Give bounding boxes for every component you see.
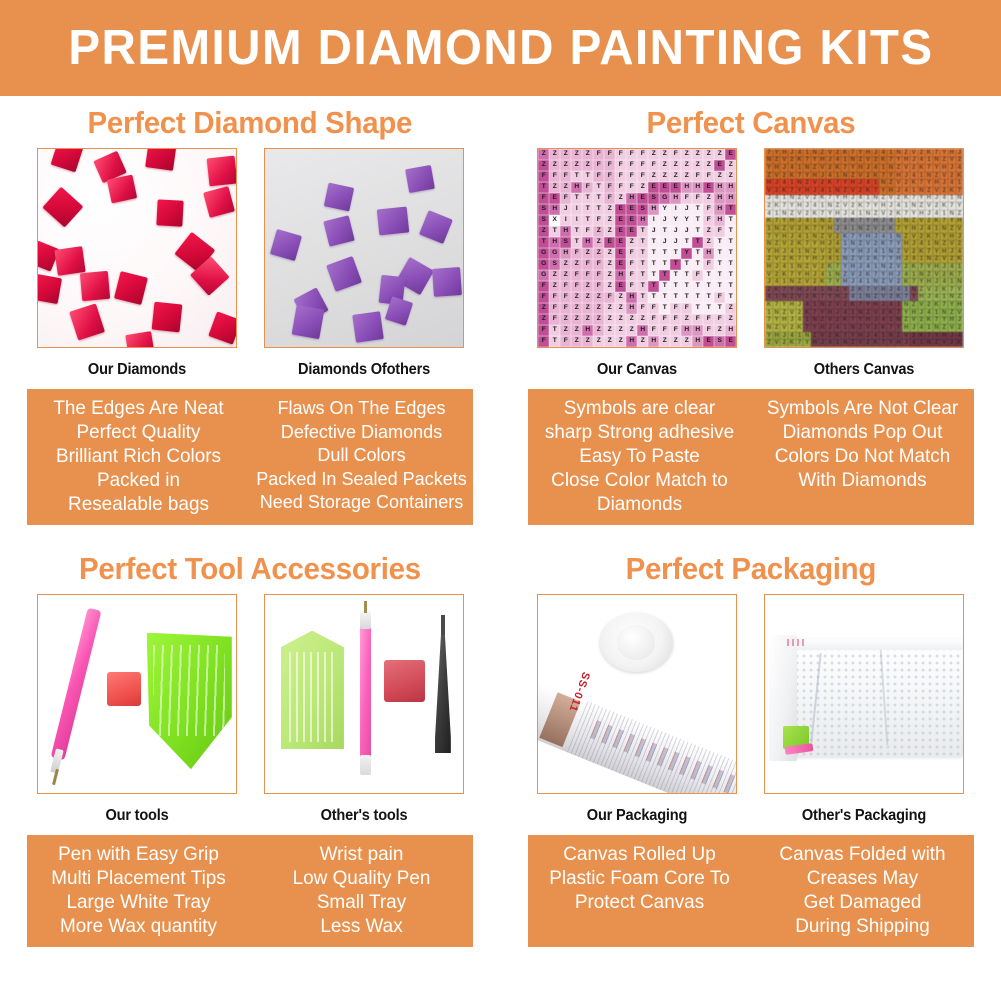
canvas-symbol-cell: 1 <box>803 233 811 241</box>
canvas-symbol-cell: 4 <box>796 233 804 241</box>
canvas-symbol-cell: T <box>659 248 670 259</box>
canvas-symbol-cell: V <box>895 263 903 271</box>
canvas-symbol-cell: E <box>604 237 615 248</box>
canvas-symbol-cell: T <box>681 237 692 248</box>
canvas-symbol-cell: K <box>925 149 933 157</box>
canvas-symbol-cell: K <box>872 172 880 180</box>
canvas-symbol-cell: F <box>703 325 714 336</box>
canvas-symbol-cell: F <box>615 149 626 160</box>
canvas-symbol-cell: N <box>857 225 865 233</box>
canvas-symbol-cell: V <box>857 172 865 180</box>
canvas-symbol-cell: J <box>857 263 865 271</box>
canvas-symbol-cell: V <box>765 271 773 279</box>
canvas-symbol-cell: Z <box>582 314 593 325</box>
canvas-symbol-cell: F <box>593 160 604 171</box>
canvas-symbol-cell: J <box>895 271 903 279</box>
canvas-symbol-cell: 1 <box>910 271 918 279</box>
canvas-symbol-cell: Z <box>948 309 956 317</box>
canvas-symbol-cell: Z <box>857 157 865 165</box>
canvas-symbol-cell: Z <box>725 171 736 182</box>
textband-diamond-shape: The Edges Are Neat Perfect Quality Brill… <box>27 389 473 525</box>
canvas-symbol-cell: V <box>902 248 910 256</box>
canvas-symbol-cell: F <box>560 292 571 303</box>
canvas-symbol-cell: 7 <box>879 172 887 180</box>
canvas-symbol-cell: 4 <box>879 149 887 157</box>
canvas-symbol-cell: 7 <box>925 332 933 340</box>
canvas-symbol-cell: E <box>615 226 626 237</box>
canvas-symbol-cell: Y <box>887 256 895 264</box>
canvas-symbol-cell: Z <box>714 171 725 182</box>
section-title-canvas: Perfect Canvas <box>646 107 855 138</box>
canvas-symbol-cell: T <box>714 270 725 281</box>
canvas-symbol-cell: 2 <box>834 233 842 241</box>
canvas-symbol-cell: F <box>692 171 703 182</box>
canvas-symbol-cell: J <box>560 204 571 215</box>
canvas-symbol-cell: Y <box>918 278 926 286</box>
canvas-symbol-cell: Z <box>918 286 926 294</box>
text-line: Pen with Easy Grip <box>33 842 245 866</box>
canvas-symbol-cell: 4 <box>933 210 941 218</box>
text-line: Symbols Are Not Clear <box>756 396 968 420</box>
canvas-symbol-cell: 2 <box>841 301 849 309</box>
textband-packaging: Canvas Rolled Up Plastic Foam Core To Pr… <box>528 835 974 947</box>
canvas-symbol-cell: V <box>879 294 887 302</box>
canvas-symbol-cell: 1 <box>857 294 865 302</box>
canvas-symbol-cell: 2 <box>780 256 788 264</box>
canvas-symbol-cell: T <box>692 292 703 303</box>
textcol-our-canvas: Symbols are clear sharp Strong adhesive … <box>531 389 747 525</box>
canvas-symbol-cell: S <box>549 259 560 270</box>
canvas-symbol-cell: T <box>725 270 736 281</box>
canvas-symbol-cell: Z <box>773 157 781 165</box>
section-title-diamond-shape: Perfect Diamond Shape <box>88 107 413 138</box>
canvas-symbol-cell: H <box>925 278 933 286</box>
canvas-symbol-cell: Z <box>811 248 819 256</box>
canvas-symbol-cell: V <box>773 172 781 180</box>
canvas-symbol-cell: I <box>560 215 571 226</box>
canvas-symbol-cell: T <box>703 281 714 292</box>
canvas-symbol-cell: 2 <box>788 240 796 248</box>
caption-line-packaging: Our Packaging Other's Packaging <box>501 800 1001 825</box>
canvas-symbol-cell: K <box>910 179 918 187</box>
canvas-symbol-cell: V <box>933 187 941 195</box>
canvas-symbol-cell: G <box>549 248 560 259</box>
canvas-symbol-cell: J <box>887 286 895 294</box>
canvas-symbol-cell: J <box>857 179 865 187</box>
canvas-symbol-cell: N <box>773 309 781 317</box>
canvas-symbol-cell: F <box>571 248 582 259</box>
canvas-symbol-cell: N <box>872 278 880 286</box>
canvas-symbol-cell: Z <box>560 182 571 193</box>
canvas-symbol-cell: H <box>788 218 796 226</box>
canvas-symbol-cell: T <box>725 259 736 270</box>
canvas-symbol-cell: Z <box>604 270 615 281</box>
canvas-symbol-cell: Z <box>538 303 549 314</box>
canvas-symbol-cell: H <box>819 157 827 165</box>
canvas-symbol-cell: 2 <box>765 202 773 210</box>
canvas-symbol-cell: 4 <box>918 324 926 332</box>
canvas-symbol-cell: 2 <box>780 339 788 347</box>
canvas-symbol-cell: J <box>659 237 670 248</box>
canvas-symbol-cell: 1 <box>841 157 849 165</box>
image-pair-diamond-shape <box>0 148 501 348</box>
canvas-symbol-cell: 4 <box>819 187 827 195</box>
canvas-symbol-cell: V <box>910 149 918 157</box>
canvas-symbol-cell: Z <box>857 240 865 248</box>
canvas-symbol-cell: F <box>538 281 549 292</box>
canvas-symbol-cell: T <box>648 237 659 248</box>
canvas-symbol-cell: J <box>811 271 819 279</box>
canvas-symbol-cell: Z <box>773 240 781 248</box>
canvas-symbol-cell: Y <box>857 233 865 241</box>
canvas-symbol-cell: 1 <box>826 187 834 195</box>
canvas-symbol-cell: 4 <box>796 317 804 325</box>
canvas-symbol-cell: J <box>940 263 948 271</box>
canvas-symbol-cell: Z <box>872 210 880 218</box>
section-title-packaging: Perfect Packaging <box>625 553 876 584</box>
canvas-symbol-cell: V <box>849 271 857 279</box>
canvas-symbol-cell: T <box>549 325 560 336</box>
canvas-symbol-cell: N <box>940 225 948 233</box>
canvas-symbol-cell: Z <box>582 149 593 160</box>
canvas-symbol-cell: 2 <box>841 218 849 226</box>
canvas-symbol-cell: Z <box>604 336 615 347</box>
canvas-symbol-cell: E <box>615 248 626 259</box>
canvas-symbol-cell: J <box>834 309 842 317</box>
canvas-symbol-cell: 7 <box>933 233 941 241</box>
canvas-symbol-cell: 1 <box>826 271 834 279</box>
canvas-symbol-cell: F <box>538 325 549 336</box>
canvas-symbol-cell: J <box>841 210 849 218</box>
canvas-symbol-cell: 4 <box>864 263 872 271</box>
canvas-symbol-cell: H <box>788 301 796 309</box>
canvas-symbol-cell: 7 <box>788 187 796 195</box>
canvas-symbol-cell: 7 <box>872 271 880 279</box>
canvas-symbol-cell: 4 <box>834 324 842 332</box>
canvas-symbol-cell: Z <box>670 160 681 171</box>
canvas-symbol-cell: E <box>703 336 714 347</box>
canvas-symbol-cell: T <box>659 226 670 237</box>
canvas-symbol-cell: H <box>933 179 941 187</box>
canvas-symbol-cell: K <box>956 256 964 264</box>
caption-others-packaging: Other's Packaging <box>770 807 958 825</box>
text-line: Protect Canvas <box>533 890 745 914</box>
canvas-symbol-cell: 1 <box>811 218 819 226</box>
canvas-symbol-cell: I <box>648 215 659 226</box>
canvas-symbol-cell: H <box>803 187 811 195</box>
canvas-symbol-cell: 7 <box>803 157 811 165</box>
canvas-symbol-cell: N <box>826 202 834 210</box>
canvas-symbol-cell: 4 <box>887 301 895 309</box>
canvas-symbol-cell: F <box>549 171 560 182</box>
canvas-symbol-cell: H <box>549 237 560 248</box>
canvas-symbol-cell: E <box>637 193 648 204</box>
canvas-symbol-cell: K <box>918 332 926 340</box>
canvas-symbol-cell: N <box>864 210 872 218</box>
canvas-symbol-cell: K <box>765 301 773 309</box>
canvas-symbol-cell: F <box>703 259 714 270</box>
canvas-symbol-cell: J <box>910 324 918 332</box>
canvas-symbol-cell: 2 <box>826 332 834 340</box>
canvas-symbol-cell: N <box>841 256 849 264</box>
canvas-symbol-cell: J <box>773 263 781 271</box>
canvas-symbol-cell: 4 <box>933 294 941 302</box>
canvas-symbol-cell: T <box>549 226 560 237</box>
canvas-symbol-cell: Y <box>811 240 819 248</box>
canvas-symbol-cell: K <box>841 233 849 241</box>
canvas-symbol-cell: J <box>948 164 956 172</box>
textcol-other-diamonds: Flaws On The Edges Defective Diamonds Du… <box>254 389 470 525</box>
canvas-symbol-cell: H <box>703 248 714 259</box>
canvas-symbol-cell: H <box>834 294 842 302</box>
canvas-symbol-cell: 2 <box>918 149 926 157</box>
canvas-symbol-cell: T <box>725 204 736 215</box>
canvas-symbol-cell: 1 <box>902 202 910 210</box>
canvas-symbol-cell: V <box>872 309 880 317</box>
canvas-symbol-cell: 7 <box>780 202 788 210</box>
canvas-symbol-cell: H <box>864 317 872 325</box>
canvas-symbol-cell: 1 <box>811 301 819 309</box>
canvas-symbol-cell: 7 <box>773 301 781 309</box>
canvas-symbol-cell: J <box>872 317 880 325</box>
canvas-symbol-cell: Z <box>615 193 626 204</box>
canvas-symbol-cell: V <box>948 240 956 248</box>
canvas-symbol-cell: 7 <box>902 294 910 302</box>
canvas-symbol-cell: T <box>703 303 714 314</box>
text-line: Colors Do Not Match <box>756 444 968 468</box>
canvas-symbol-cell: H <box>725 182 736 193</box>
canvas-symbol-cell: J <box>826 157 834 165</box>
canvas-symbol-cell: K <box>788 172 796 180</box>
canvas-symbol-cell: V <box>918 218 926 226</box>
canvas-symbol-cell: K <box>819 278 827 286</box>
canvas-symbol-cell: H <box>910 309 918 317</box>
canvas-symbol-cell: J <box>670 237 681 248</box>
text-line: Large White Tray <box>33 890 245 914</box>
text-line: Packed in <box>33 468 245 492</box>
canvas-symbol-cell: 4 <box>788 248 796 256</box>
canvas-symbol-cell: Y <box>788 286 796 294</box>
canvas-symbol-cell: 1 <box>887 317 895 325</box>
canvas-symbol-cell: Z <box>692 149 703 160</box>
canvas-symbol-cell: F <box>549 292 560 303</box>
canvas-symbol-cell: 7 <box>887 157 895 165</box>
canvas-symbol-cell: 1 <box>902 286 910 294</box>
canvas-symbol-cell: 4 <box>910 172 918 180</box>
canvas-symbol-cell: T <box>538 182 549 193</box>
canvas-symbol-cell: 4 <box>940 195 948 203</box>
canvas-symbol-cell: 7 <box>819 294 827 302</box>
canvas-symbol-cell: J <box>956 233 964 241</box>
canvas-symbol-cell: 1 <box>796 332 804 340</box>
canvas-symbol-cell: T <box>670 259 681 270</box>
canvas-symbol-cell: J <box>940 179 948 187</box>
canvas-symbol-cell: V <box>780 157 788 165</box>
canvas-symbol-cell: H <box>714 215 725 226</box>
canvas-symbol-cell: H <box>692 336 703 347</box>
canvas-symbol-cell: H <box>681 325 692 336</box>
canvas-symbol-cell: N <box>887 248 895 256</box>
image-pair-packaging: SS-011 <box>501 594 1001 794</box>
canvas-symbol-cell: N <box>925 172 933 180</box>
canvas-symbol-cell: Z <box>593 325 604 336</box>
canvas-symbol-cell: N <box>887 332 895 340</box>
text-line: More Wax quantity <box>33 914 245 938</box>
canvas-symbol-cell: Z <box>703 160 714 171</box>
canvas-symbol-cell: K <box>895 294 903 302</box>
canvas-symbol-cell: 1 <box>925 324 933 332</box>
canvas-symbol-cell: S <box>538 215 549 226</box>
canvas-symbol-cell: K <box>887 225 895 233</box>
canvas-symbol-cell: H <box>956 218 964 226</box>
canvas-symbol-cell: Z <box>615 314 626 325</box>
canvas-symbol-cell: F <box>593 259 604 270</box>
canvas-symbol-cell: F <box>626 149 637 160</box>
canvas-symbol-cell: Z <box>902 149 910 157</box>
canvas-symbol-cell: Z <box>796 278 804 286</box>
canvas-symbol-cell: Z <box>925 187 933 195</box>
canvas-symbol-cell: 2 <box>902 179 910 187</box>
canvas-symbol-cell: Z <box>571 325 582 336</box>
canvas-symbol-cell: 1 <box>788 263 796 271</box>
canvas-symbol-cell: H <box>811 339 819 347</box>
canvas-symbol-cell: T <box>637 292 648 303</box>
canvas-symbol-cell: 2 <box>826 248 834 256</box>
text-line: Less Wax <box>256 914 468 938</box>
canvas-symbol-cell: 2 <box>887 294 895 302</box>
canvas-symbol-cell: H <box>692 325 703 336</box>
canvas-symbol-cell: Y <box>788 202 796 210</box>
canvas-symbol-cell: Z <box>895 164 903 172</box>
canvas-symbol-cell: H <box>780 317 788 325</box>
canvas-symbol-cell: 7 <box>826 278 834 286</box>
canvas-symbol-cell: I <box>571 215 582 226</box>
canvas-symbol-cell: T <box>670 281 681 292</box>
canvas-symbol-cell: F <box>670 303 681 314</box>
canvas-symbol-cell: F <box>637 149 648 160</box>
canvas-symbol-cell: J <box>780 332 788 340</box>
canvas-symbol-cell: 2 <box>925 218 933 226</box>
textcol-our-tools: Pen with Easy Grip Multi Placement Tips … <box>31 835 247 947</box>
canvas-symbol-cell: Z <box>604 204 615 215</box>
canvas-symbol-cell: H <box>773 248 781 256</box>
canvas-symbol-cell: V <box>864 324 872 332</box>
canvas-symbol-cell: N <box>780 210 788 218</box>
canvas-symbol-cell: T <box>670 248 681 259</box>
canvas-symbol-cell: 7 <box>765 317 773 325</box>
canvas-symbol-cell: V <box>796 294 804 302</box>
canvas-symbol-cell: 2 <box>895 195 903 203</box>
canvas-symbol-cell: Z <box>582 303 593 314</box>
canvas-symbol-cell: K <box>841 149 849 157</box>
canvas-symbol-cell: J <box>849 195 857 203</box>
canvas-symbol-cell: Z <box>648 149 659 160</box>
canvas-symbol-cell: T <box>659 270 670 281</box>
canvas-symbol-cell: V <box>956 309 964 317</box>
canvas-symbol-cell: 4 <box>956 164 964 172</box>
canvas-symbol-cell: Z <box>879 195 887 203</box>
canvas-symbol-cell: T <box>659 303 670 314</box>
canvas-symbol-cell: H <box>872 301 880 309</box>
canvas-symbol-cell: Z <box>714 325 725 336</box>
canvas-symbol-cell: E <box>549 193 560 204</box>
canvas-symbol-cell: V <box>895 179 903 187</box>
canvas-symbol-cell: Z <box>681 171 692 182</box>
canvas-symbol-cell: 7 <box>895 309 903 317</box>
canvas-symbol-cell: 2 <box>780 172 788 180</box>
canvas-symbol-cell: 7 <box>956 271 964 279</box>
canvas-symbol-cell: 1 <box>918 172 926 180</box>
canvas-symbol-cell: 7 <box>819 210 827 218</box>
text-line: Multi Placement Tips <box>33 866 245 890</box>
canvas-symbol-cell: 7 <box>857 218 865 226</box>
canvas-symbol-cell: Z <box>910 218 918 226</box>
canvas-symbol-cell: 2 <box>956 240 964 248</box>
canvas-symbol-cell: 1 <box>933 225 941 233</box>
canvas-symbol-cell: N <box>872 195 880 203</box>
canvas-symbol-cell: 1 <box>948 195 956 203</box>
caption-others-canvas: Others Canvas <box>770 361 958 379</box>
canvas-symbol-cell: J <box>902 339 910 347</box>
canvas-symbol-cell: 2 <box>872 240 880 248</box>
canvas-symbol-cell: I <box>571 204 582 215</box>
canvas-symbol-cell: H <box>857 164 865 172</box>
canvas-symbol-cell: F <box>681 303 692 314</box>
canvas-symbol-cell: G <box>538 248 549 259</box>
canvas-symbol-cell: Z <box>604 248 615 259</box>
canvas-symbol-cell: T <box>648 281 659 292</box>
canvas-symbol-cell: H <box>895 172 903 180</box>
canvas-symbol-cell: 2 <box>918 233 926 241</box>
canvas-symbol-cell: 1 <box>879 332 887 340</box>
canvas-symbol-cell: T <box>648 292 659 303</box>
canvas-symbol-cell: K <box>879 157 887 165</box>
text-line: Wrist pain <box>256 842 468 866</box>
canvas-symbol-cell: Z <box>571 292 582 303</box>
canvas-symbol-cell: H <box>714 193 725 204</box>
canvas-symbol-cell: 4 <box>841 225 849 233</box>
canvas-symbol-cell: J <box>956 149 964 157</box>
canvas-symbol-cell: J <box>648 226 659 237</box>
canvas-symbol-cell: E <box>626 204 637 215</box>
canvas-symbol-cell: Z <box>925 271 933 279</box>
canvas-symbol-cell: Y <box>796 187 804 195</box>
canvas-symbol-cell: H <box>948 149 956 157</box>
canvas-symbol-cell: Z <box>681 160 692 171</box>
canvas-symbol-cell: Y <box>811 324 819 332</box>
canvas-symbol-cell: V <box>765 187 773 195</box>
canvas-symbol-cell: Z <box>593 226 604 237</box>
canvas-symbol-cell: F <box>560 281 571 292</box>
section-packaging: Perfect Packaging SS- <box>501 542 1001 947</box>
canvas-symbol-cell: H <box>841 195 849 203</box>
canvas-symbol-cell: V <box>788 309 796 317</box>
canvas-symbol-cell: K <box>811 294 819 302</box>
canvas-symbol-cell: F <box>703 204 714 215</box>
canvas-symbol-cell: V <box>918 301 926 309</box>
canvas-symbol-cell: V <box>803 278 811 286</box>
canvas-symbol-cell: F <box>714 314 725 325</box>
canvas-symbol-cell: H <box>879 202 887 210</box>
canvas-symbol-cell: T <box>714 303 725 314</box>
canvas-symbol-cell: V <box>925 286 933 294</box>
canvas-symbol-cell: V <box>819 332 827 340</box>
canvas-symbol-cell: 1 <box>872 263 880 271</box>
canvas-symbol-cell: H <box>626 336 637 347</box>
canvas-symbol-cell: 7 <box>849 317 857 325</box>
canvas-symbol-cell: F <box>538 171 549 182</box>
canvas-symbol-cell: 4 <box>902 271 910 279</box>
